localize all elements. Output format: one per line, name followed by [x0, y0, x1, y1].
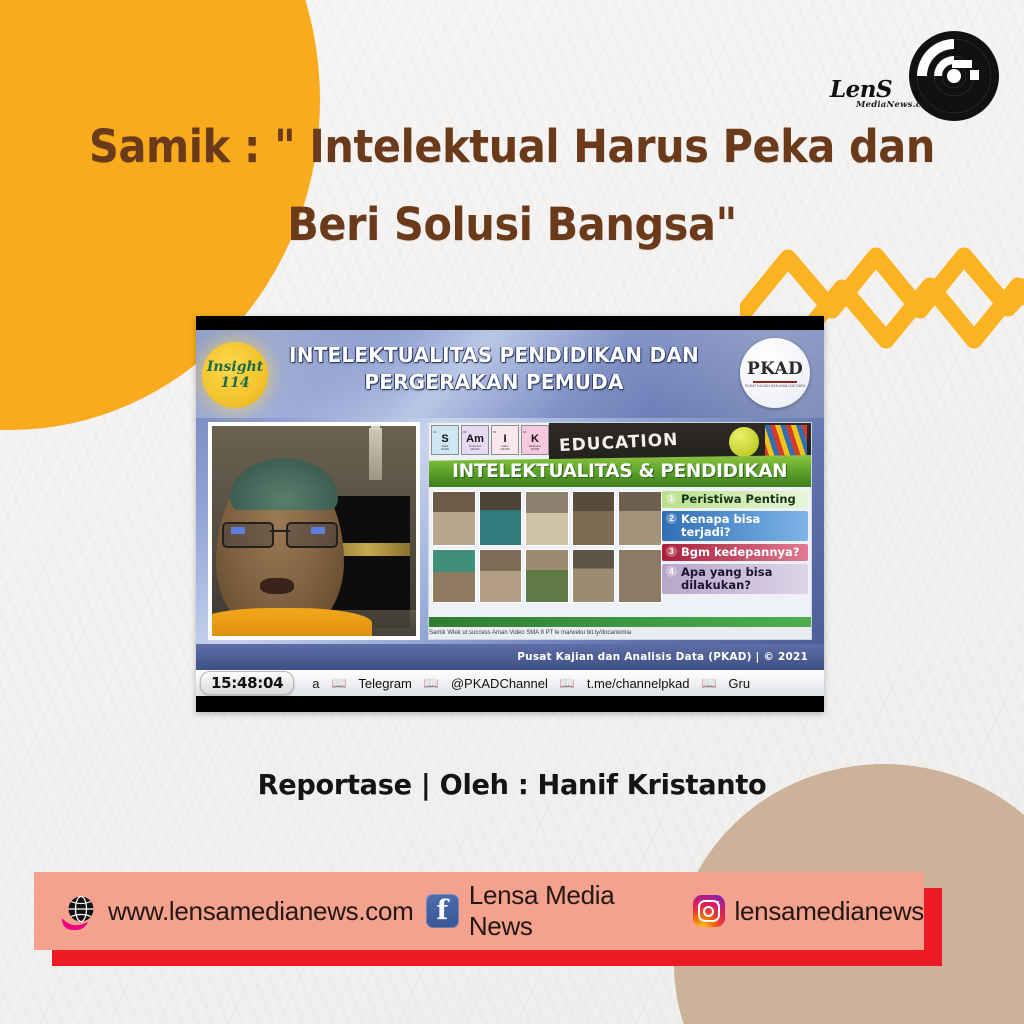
ticker-item: @PKADChannel [451, 676, 548, 691]
photo-thumb [525, 549, 569, 604]
ticker-item: Telegram [358, 676, 411, 691]
speaker-image [212, 426, 416, 636]
instagram-item[interactable]: lensamedianews [693, 895, 924, 927]
classroom-photo-grid [432, 491, 662, 603]
photo-thumb [618, 491, 662, 546]
logo-wordmark: LenS [830, 76, 892, 103]
periodic-elements: 16 S Sulfur 32.066 95 Am Americium 243.0… [431, 425, 549, 455]
reporter-credit: Reportase | Oleh : Hanif Kristanto [15, 768, 1008, 801]
pkad-logo-rule [753, 381, 797, 383]
book-icon: 📖 [424, 676, 439, 690]
instagram-icon [693, 895, 725, 927]
headline-line-2: Beri Solusi Bangsa" [41, 186, 983, 264]
ticker-item: Gru [728, 676, 750, 691]
facebook-item[interactable]: Lensa Media News [426, 880, 681, 942]
video-caption-bar: Pusat Kajian dan Analisis Data (PKAD) | … [196, 644, 824, 670]
photo-thumb [572, 491, 616, 546]
photo-thumb [432, 549, 476, 604]
video-screenshot[interactable]: Insight 114 INTELEKTUALITAS PENDIDIKAN D… [196, 316, 824, 712]
video-title-line-1: INTELEKTUALITAS PENDIDIKAN DAN [284, 342, 704, 369]
presentation-slide: 16 S Sulfur 32.066 95 Am Americium 243.0… [428, 422, 812, 640]
insight-label: Insight [207, 359, 263, 375]
footer-bar: www.lensamedianews.com Lensa Media News … [34, 872, 924, 950]
instagram-handle: lensamedianews [735, 896, 924, 927]
pencils-decoration [765, 425, 807, 459]
speaker-webcam-tile [208, 422, 420, 640]
speaker-glasses [222, 522, 338, 544]
book-icon: 📖 [331, 676, 346, 690]
ticker-item: t.me/channelpkad [587, 676, 690, 691]
timestamp: 15:48:04 [200, 671, 294, 695]
element-tile: 53 I Iodine 126.904 [491, 425, 519, 455]
video-title: INTELEKTUALITAS PENDIDIKAN DAN PERGERAKA… [284, 342, 704, 396]
news-ticker: 15:48:04 a 📖 Telegram 📖 @PKADChannel 📖 t… [196, 670, 824, 696]
bullet-item: 3 Bgm kedepannya? [662, 544, 808, 561]
page-title: Samik : " Intelektual Harus Peka dan Ber… [41, 108, 983, 264]
speaker-shirt [212, 608, 372, 636]
facebook-icon [426, 894, 459, 928]
book-icon: 📖 [701, 676, 716, 690]
video-letterbox-bottom [196, 696, 824, 712]
photo-thumb [479, 491, 523, 546]
headline-line-1: Samik : " Intelektual Harus Peka dan [41, 108, 983, 186]
element-tile: 95 Am Americium 243.061 [461, 425, 489, 455]
video-title-line-2: PERGERAKAN PEMUDA [284, 369, 704, 396]
globe-icon [60, 892, 98, 930]
pkad-logo-text: PKAD [747, 359, 803, 379]
bullet-item: 4 Apa yang bisa dilakukan? [662, 564, 808, 594]
chalkboard-text: EDUCATION [559, 430, 679, 456]
speaker-mouth [260, 578, 294, 594]
photo-thumb [479, 549, 523, 604]
insight-number: 114 [220, 375, 249, 391]
element-tile: 19 K Potassium 39.098 [521, 425, 549, 455]
website-url: www.lensamedianews.com [108, 896, 414, 927]
apple-icon [729, 427, 759, 457]
element-tile: 16 S Sulfur 32.066 [431, 425, 459, 455]
ticker-item: a [312, 676, 319, 691]
book-icon: 📖 [560, 676, 575, 690]
video-content: Insight 114 INTELEKTUALITAS PENDIDIKAN D… [196, 330, 824, 670]
photo-thumb [432, 491, 476, 546]
slide-banner-text: INTELEKTUALITAS & PENDIDIKAN [452, 460, 787, 482]
slide-credit-strip: Samik Wlek ur.success Aman Video SMA 8 P… [429, 627, 811, 639]
slide-green-footer [429, 617, 811, 627]
photo-thumb [525, 491, 569, 546]
pkad-logo: PKAD PUSAT KAJIAN DAN ANALISIS DATA [740, 338, 810, 408]
video-caption-text: Pusat Kajian dan Analisis Data (PKAD) | … [517, 651, 808, 663]
bullet-item: 1 Peristiwa Penting [662, 491, 808, 508]
bullet-item: 2 Kenapa bisa terjadi? [662, 511, 808, 541]
pkad-logo-subtext: PUSAT KAJIAN DAN ANALISIS DATA [745, 384, 805, 388]
video-header-banner: Insight 114 INTELEKTUALITAS PENDIDIKAN D… [196, 330, 824, 418]
speaker-cap [230, 458, 338, 510]
photo-thumb [572, 549, 616, 604]
website-item[interactable]: www.lensamedianews.com [60, 892, 414, 930]
poster-canvas: LenS MediaNews.com Samik : " Intelektual… [0, 0, 1024, 1024]
facebook-name: Lensa Media News [469, 880, 681, 942]
ticker-items: a 📖 Telegram 📖 @PKADChannel 📖 t.me/chann… [302, 676, 760, 691]
slide-bullet-list: 1 Peristiwa Penting 2 Kenapa bisa terjad… [662, 491, 808, 597]
slide-banner: INTELEKTUALITAS & PENDIDIKAN [429, 455, 811, 487]
minaret-decoration [369, 428, 382, 480]
photo-thumb [618, 549, 662, 604]
insight-badge: Insight 114 [202, 342, 268, 408]
